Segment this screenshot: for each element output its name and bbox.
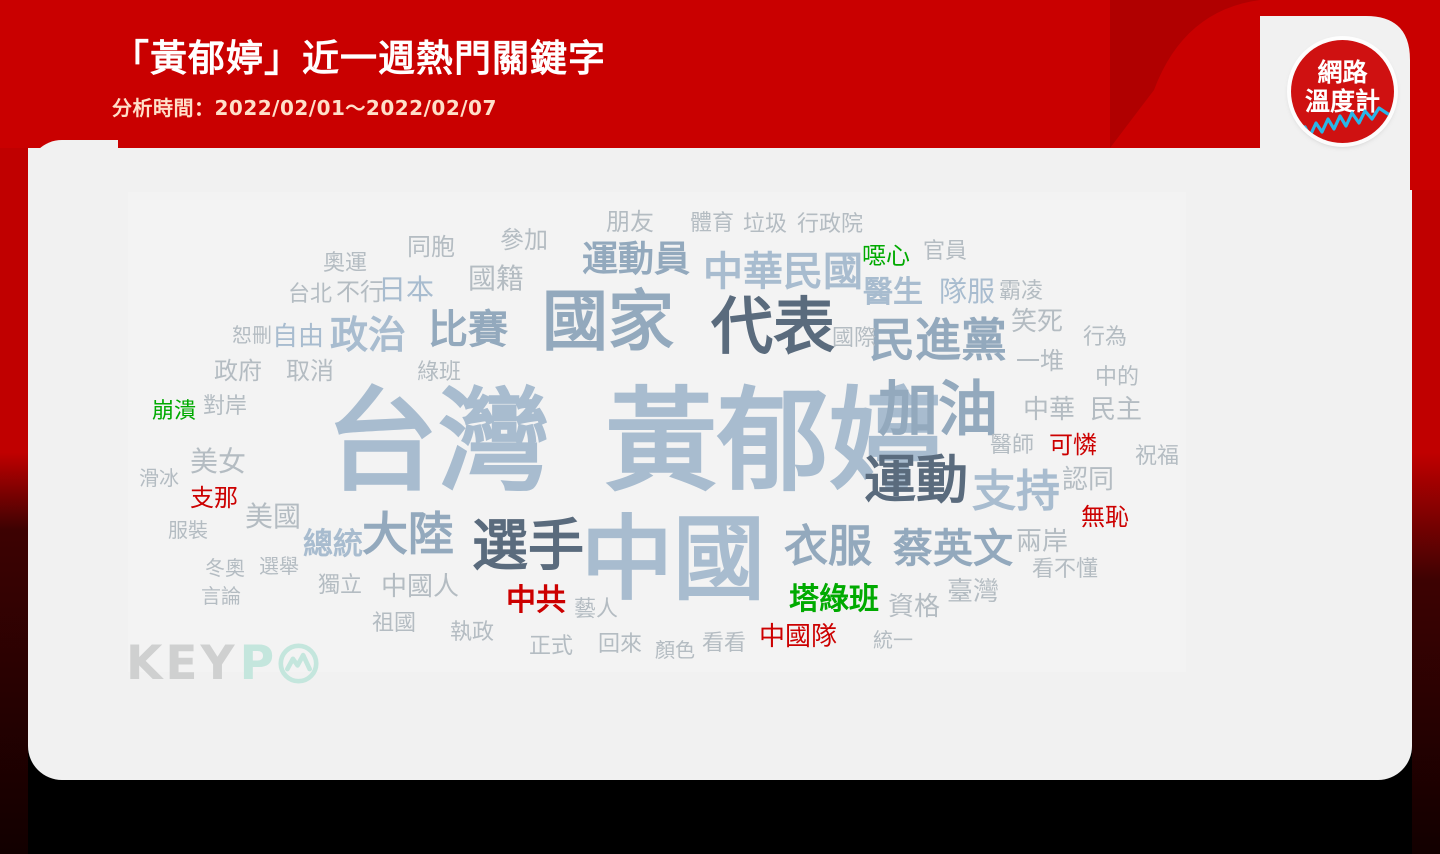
cloud-word: 代表: [711, 296, 835, 358]
cloud-word: 行為: [1083, 327, 1127, 349]
cloud-word: 大陸: [362, 511, 454, 557]
cloud-word: 言論: [201, 586, 241, 606]
cloud-word: 醫生: [863, 278, 923, 308]
cloud-word: 選舉: [259, 556, 299, 576]
cloud-word: 國籍: [468, 265, 524, 293]
cloud-word: 運動員: [582, 242, 690, 278]
cloud-word: 藝人: [574, 599, 618, 621]
keypo-text-p: P: [240, 636, 275, 691]
cloud-word: 滑冰: [139, 468, 179, 488]
cloud-word: 中華: [1023, 397, 1075, 423]
cloud-word: 服裝: [168, 520, 208, 540]
cloud-word: 政府: [214, 359, 262, 383]
cloud-word: 獨立: [318, 575, 362, 597]
cloud-word: 看不懂: [1032, 559, 1098, 581]
cloud-word: 不行: [336, 280, 384, 304]
analysis-period: 分析時間：2022/02/01～2022/02/07: [112, 92, 497, 121]
right-red-rail: [1412, 0, 1440, 854]
cloud-word: 中共: [506, 586, 566, 616]
keypo-watermark: KEY P: [126, 636, 319, 691]
cloud-word: 支那: [190, 486, 238, 510]
cloud-word: 笑死: [1011, 309, 1063, 335]
cloud-word: 同胞: [407, 235, 455, 259]
cloud-word: 總統: [303, 530, 363, 560]
cloud-word: 民主: [1090, 397, 1142, 423]
cloud-word: 無恥: [1081, 505, 1129, 529]
cloud-word: 支持: [972, 470, 1060, 514]
cloud-word: 中華民國: [703, 252, 863, 292]
cloud-word: 統一: [873, 630, 913, 650]
keypo-mountain-icon: [278, 643, 319, 684]
cloud-word: 日本: [378, 276, 434, 304]
cloud-word: 美國: [245, 503, 301, 531]
cloud-word: 冬奧: [205, 558, 245, 578]
cloud-word: 官員: [923, 241, 967, 263]
cloud-word: 加油: [878, 380, 998, 440]
banner-left-notch: [28, 140, 118, 230]
cloud-word: 運動: [864, 455, 968, 507]
logo-line-1: 網路: [1291, 60, 1394, 85]
cloud-word: 中的: [1095, 367, 1139, 389]
cloud-word: 中國: [581, 514, 765, 606]
cloud-word: 執政: [450, 622, 494, 644]
cloud-word: 政治: [330, 316, 406, 354]
cloud-word: 看看: [702, 633, 746, 655]
cloud-word: 參加: [500, 228, 548, 252]
cloud-word: 崩潰: [152, 401, 196, 423]
cloud-word: 回來: [598, 634, 642, 656]
cloud-word: 台灣: [326, 386, 550, 498]
cloud-word: 塔綠班: [789, 585, 879, 615]
cloud-word: 霸凌: [999, 281, 1043, 303]
infographic-root: 台灣黃郁婷中國國家代表加油選手運動民進黨大陸支持衣服中華民國蔡英文比賽運動員政治…: [0, 0, 1440, 854]
cloud-word: 正式: [529, 636, 573, 658]
cloud-word: 隊服: [939, 278, 995, 306]
cloud-word: 國際: [832, 328, 876, 350]
word-cloud-panel: 台灣黃郁婷中國國家代表加油選手運動民進黨大陸支持衣服中華民國蔡英文比賽運動員政治…: [128, 192, 1186, 672]
cloud-word: 體育: [690, 213, 734, 235]
cloud-word: 美女: [190, 448, 246, 476]
cloud-word: 綠班: [417, 362, 461, 384]
cloud-word: 恕刪: [232, 325, 272, 345]
cloud-word: 噁心: [862, 244, 910, 268]
cloud-word: 臺灣: [947, 579, 999, 605]
brand-logo[interactable]: 網路 溫度計: [1291, 40, 1394, 143]
cloud-word: 行政院: [797, 214, 863, 236]
cloud-word: 垃圾: [743, 214, 787, 236]
cloud-word: 選手: [472, 519, 584, 575]
cloud-word: 朋友: [606, 210, 654, 234]
logo-trendline-icon: [1296, 105, 1392, 141]
cloud-word: 認同: [1062, 467, 1114, 493]
cloud-word: 中國人: [381, 574, 459, 600]
cloud-word: 可憐: [1049, 433, 1097, 457]
cloud-word: 民進黨: [869, 317, 1007, 363]
page-title: 「黃郁婷」近一週熱門關鍵字: [112, 28, 606, 82]
cloud-word: 自由: [272, 324, 324, 350]
cloud-word: 祖國: [372, 613, 416, 635]
cloud-word: 中國隊: [759, 624, 837, 650]
cloud-word: 台北: [288, 284, 332, 306]
cloud-word: 一堆: [1016, 349, 1064, 373]
cloud-word: 顏色: [655, 640, 695, 660]
cloud-word: 奧運: [323, 253, 367, 275]
cloud-word: 兩岸: [1016, 529, 1068, 555]
cloud-word: 資格: [888, 594, 940, 620]
cloud-word: 取消: [286, 359, 334, 383]
cloud-word: 醫師: [990, 435, 1034, 457]
cloud-word: 比賽: [428, 310, 508, 350]
keypo-text-key: KEY: [126, 636, 238, 691]
cloud-word: 衣服: [784, 525, 872, 569]
cloud-word: 祝福: [1135, 446, 1179, 468]
cloud-word: 國家: [542, 289, 674, 355]
cloud-word: 對岸: [203, 396, 247, 418]
cloud-word: 蔡英文: [893, 529, 1013, 569]
